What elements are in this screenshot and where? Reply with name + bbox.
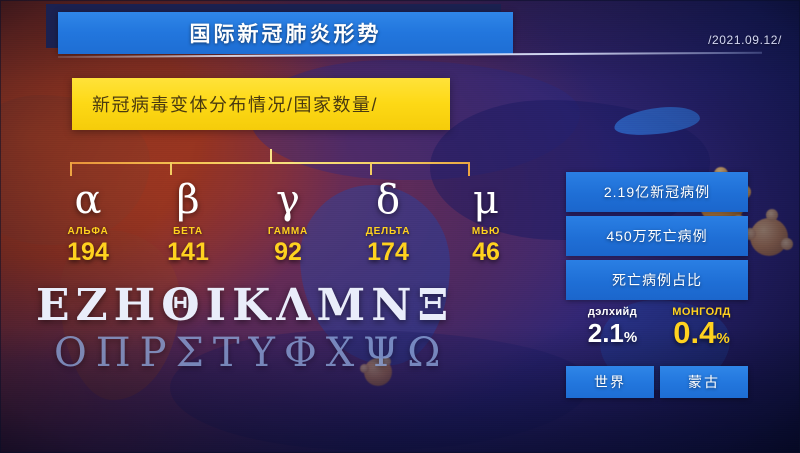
variant-glyph: γ — [240, 176, 336, 224]
death-rate-world-value: 2.1% — [568, 318, 657, 353]
region-button-world[interactable]: 世界 — [566, 366, 654, 398]
variant-name: ДЕЛЬТА — [340, 226, 436, 237]
title-bar: 国际新冠肺炎形势 — [58, 12, 513, 54]
death-rate-mongolia: МОНГОЛД 0.4% — [657, 306, 746, 354]
region-button-label: 蒙古 — [688, 372, 720, 392]
death-rate-world-number: 2.1 — [588, 318, 624, 348]
variant-count: 194 — [40, 238, 136, 266]
bracket-cap-left — [70, 162, 72, 176]
variant-count: 46 — [438, 238, 534, 266]
bracket-tick-delta — [370, 162, 372, 175]
variant-item-delta[interactable]: δ ДЕЛЬТА 174 — [340, 176, 436, 266]
greek-alphabet-row-2: ΟΠΡΣΤΥΦΧΨΩ — [54, 330, 536, 376]
broadcast-infographic-screen: 国际新冠肺炎形势 /2021.09.12/ 新冠病毒变体分布情况/国家数量/ α… — [0, 0, 800, 453]
variant-name: АЛЬФА — [40, 226, 136, 237]
death-rate-world-label: дэлхийд — [568, 306, 657, 318]
variant-count: 174 — [340, 238, 436, 266]
region-button-label: 世界 — [594, 372, 626, 392]
region-button-mongolia[interactable]: 蒙古 — [660, 366, 748, 398]
variant-glyph: β — [140, 176, 236, 224]
variant-count: 92 — [240, 238, 336, 266]
variant-item-gamma[interactable]: γ ГАММА 92 — [240, 176, 336, 266]
stat-label: 450万死亡病例 — [606, 226, 707, 246]
variant-list: α АЛЬФА 194 β БЕТА 141 γ ГАММА 92 δ ДЕЛЬ… — [40, 176, 510, 276]
date-label: /2021.09.12/ — [708, 33, 782, 47]
subtitle-text: 新冠病毒变体分布情况/国家数量/ — [72, 91, 378, 117]
variant-item-mu[interactable]: μ МЬЮ 46 — [438, 176, 534, 266]
variant-name: ГАММА — [240, 226, 336, 237]
decorative-greek-alphabet: ΕΖΗΘΙΚΛΜΝΞ ΟΠΡΣΤΥΦΧΨΩ — [36, 282, 536, 376]
death-rate-world: дэлхийд 2.1% — [568, 306, 657, 354]
bracket-tick-beta — [170, 162, 172, 175]
death-rate-mongolia-number: 0.4 — [673, 315, 716, 350]
stat-label: 死亡病例占比 — [612, 270, 702, 290]
death-rate-mongolia-value: 0.4% — [657, 318, 746, 354]
stat-label: 2.19亿新冠病例 — [604, 182, 710, 202]
percent-sign: % — [624, 329, 637, 346]
statistics-panel: 2.19亿新冠病例 450万死亡病例 死亡病例占比 дэлхийд 2.1% М… — [566, 172, 748, 398]
variant-glyph: α — [40, 176, 136, 224]
stat-box-death-rate[interactable]: 死亡病例占比 — [566, 260, 748, 300]
variant-glyph: μ — [438, 176, 534, 224]
variant-count: 141 — [140, 238, 236, 266]
variant-item-alpha[interactable]: α АЛЬФА 194 — [40, 176, 136, 266]
variant-name: БЕТА — [140, 226, 236, 237]
stat-box-total-deaths[interactable]: 450万死亡病例 — [566, 216, 748, 256]
bracket-tick-gamma-up — [270, 149, 272, 163]
page-title: 国际新冠肺炎形势 — [190, 18, 382, 48]
death-rate-comparison: дэлхийд 2.1% МОНГОЛД 0.4% — [566, 306, 748, 354]
variant-glyph: δ — [340, 176, 436, 224]
stat-box-total-cases[interactable]: 2.19亿新冠病例 — [566, 172, 748, 212]
region-toggle-group: 世界 蒙古 — [566, 366, 748, 398]
percent-sign: % — [716, 330, 729, 347]
greek-alphabet-row-1: ΕΖΗΘΙΚΛΜΝΞ — [36, 282, 536, 330]
variant-name: МЬЮ — [438, 226, 534, 237]
variant-bracket — [70, 150, 470, 176]
bracket-cap-right — [468, 162, 470, 176]
variant-item-beta[interactable]: β БЕТА 141 — [140, 176, 236, 266]
subtitle-banner: 新冠病毒变体分布情况/国家数量/ — [72, 78, 450, 130]
